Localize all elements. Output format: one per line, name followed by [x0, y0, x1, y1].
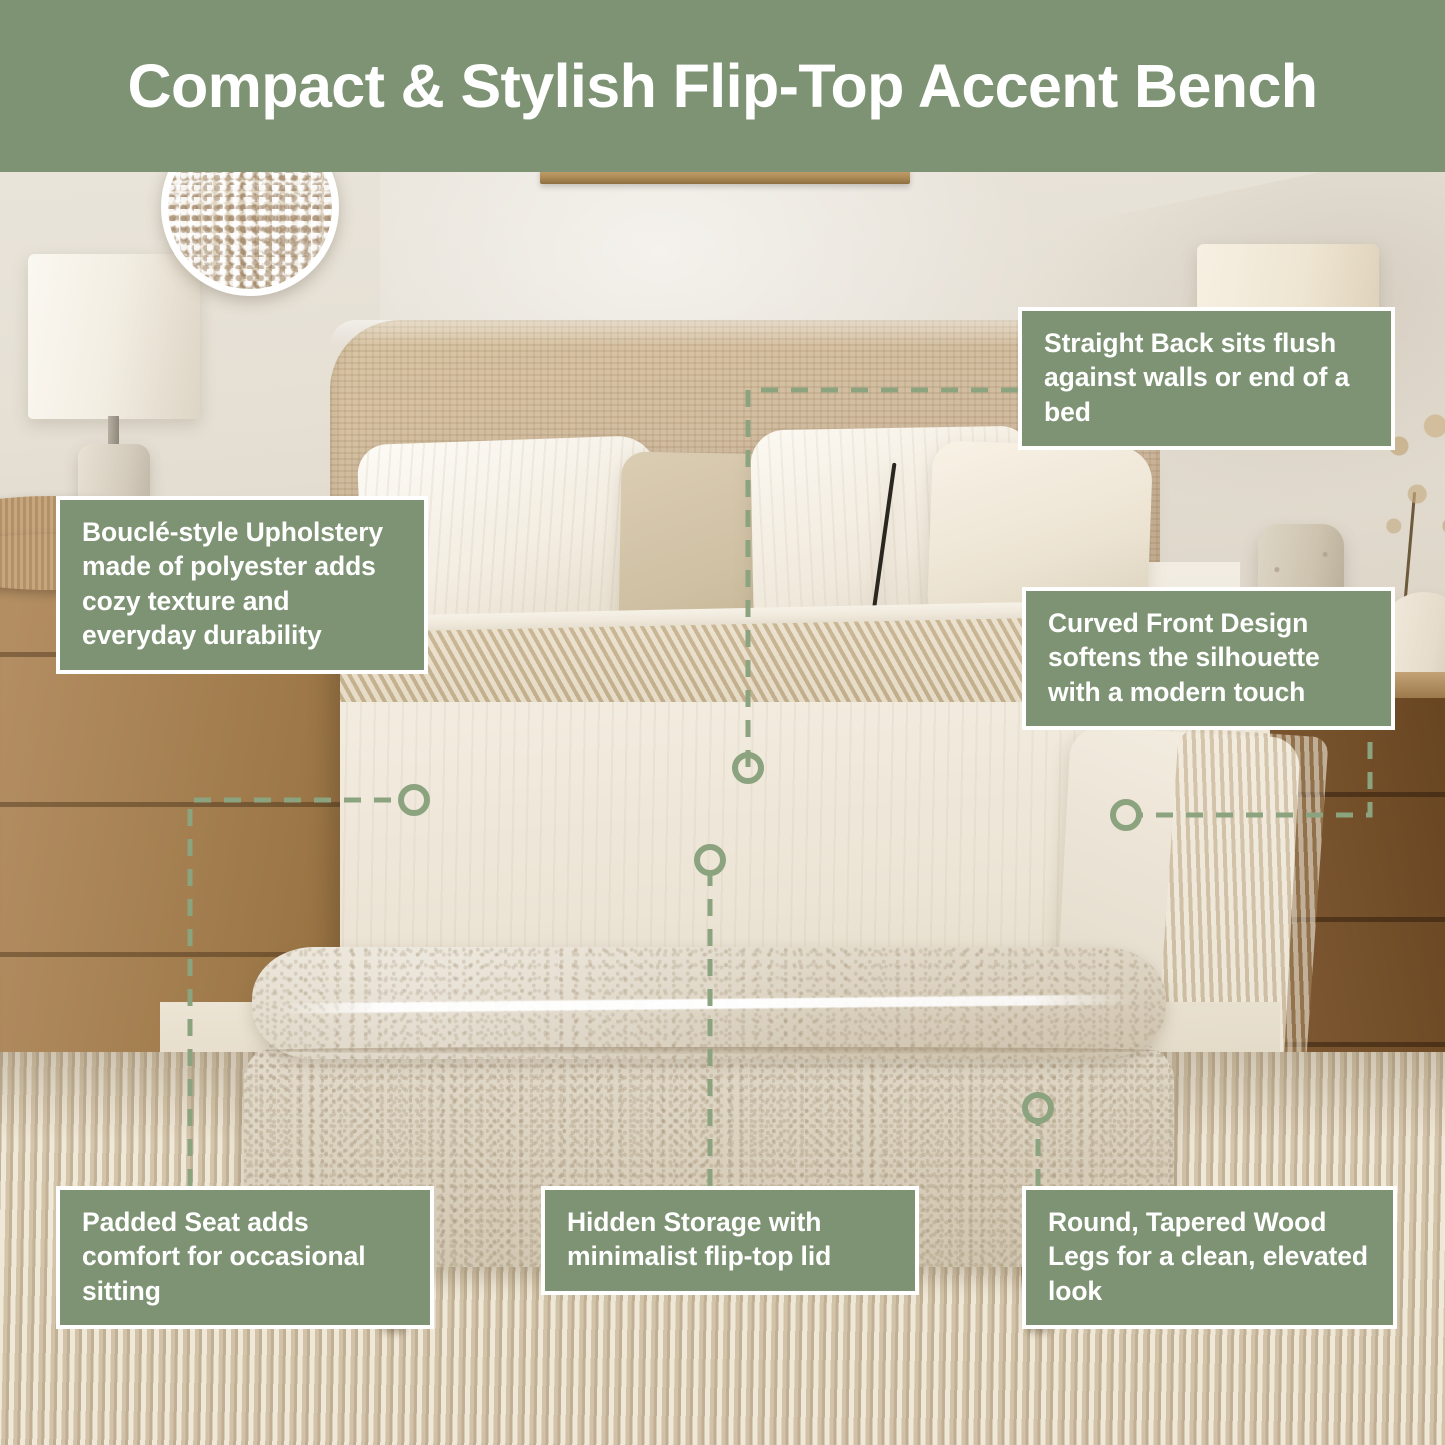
callout-curved-front: Curved Front Design softens the silhouet… — [1022, 587, 1395, 730]
callout-hidden-bold: Hidden Storage — [567, 1207, 761, 1237]
header-banner: Compact & Stylish Flip-Top Accent Bench — [0, 0, 1445, 172]
callout-curved-bold: Curved Front Design — [1048, 608, 1308, 638]
infographic-root: Compact & Stylish Flip-Top Accent Bench … — [0, 0, 1445, 1445]
callout-padded-bold: Padded Seat — [82, 1207, 240, 1237]
bench-lid-seam — [262, 1047, 1156, 1054]
left-lamp-shade — [28, 254, 200, 419]
callout-straight-back-bold: Straight Back — [1044, 328, 1214, 358]
page-title: Compact & Stylish Flip-Top Accent Bench — [128, 56, 1318, 117]
callout-boucle-upholstery: Bouclé-style Upholstery made of polyeste… — [56, 496, 428, 674]
callout-padded-seat: Padded Seat adds comfort for occasional … — [56, 1186, 434, 1329]
callout-hidden-storage: Hidden Storage with minimalist flip-top … — [541, 1186, 919, 1295]
callout-wood-legs: Round, Tapered Wood Legs for a clean, el… — [1022, 1186, 1397, 1329]
wall-art-frame — [540, 172, 910, 184]
callout-boucle-rest: made of polyester adds cozy texture and … — [82, 551, 376, 650]
callout-boucle-bold: Bouclé-style Upholstery — [82, 517, 383, 547]
callout-curved-rest: softens the silhouette with a modern tou… — [1048, 642, 1320, 706]
left-dresser-drawer-line — [0, 802, 340, 807]
callout-straight-back: Straight Back sits flush against walls o… — [1018, 307, 1395, 450]
